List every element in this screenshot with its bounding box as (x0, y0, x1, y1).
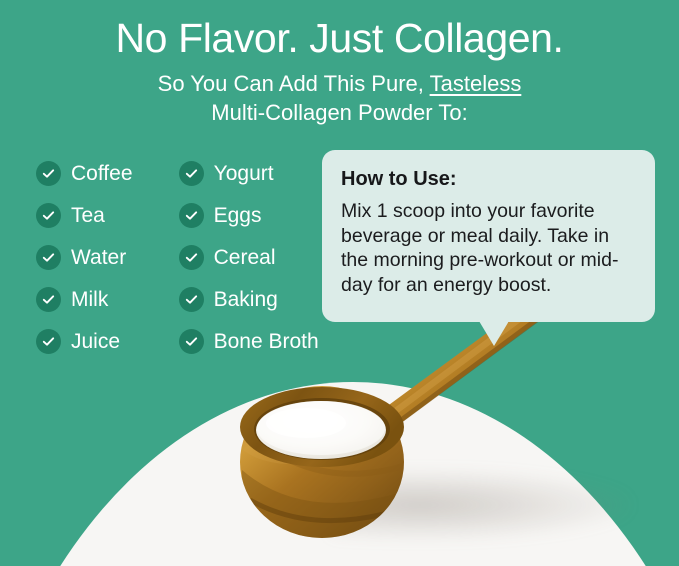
list-item: Bone Broth (179, 320, 336, 362)
list-item: Water (36, 236, 179, 278)
check-circle-icon (36, 203, 61, 228)
list-item: Juice (36, 320, 179, 362)
list-item-label: Bone Broth (214, 331, 319, 352)
usage-checklist: Coffee Tea Water Milk (36, 152, 336, 362)
headline-block: No Flavor. Just Collagen. So You Can Add… (0, 0, 679, 127)
check-circle-icon (179, 329, 204, 354)
list-item: Milk (36, 278, 179, 320)
subline: So You Can Add This Pure, Tasteless Mult… (0, 61, 679, 127)
list-item: Cereal (179, 236, 336, 278)
subline-prefix: So You Can Add This Pure, (158, 71, 430, 96)
checklist-column-left: Coffee Tea Water Milk (36, 152, 179, 362)
list-item-label: Baking (214, 289, 278, 310)
list-item-label: Eggs (214, 205, 262, 226)
list-item: Eggs (179, 194, 336, 236)
check-circle-icon (36, 245, 61, 270)
callout-title: How to Use: (341, 168, 636, 190)
list-item: Coffee (36, 152, 179, 194)
list-item-label: Juice (71, 331, 120, 352)
list-item: Tea (36, 194, 179, 236)
list-item-label: Tea (71, 205, 105, 226)
check-circle-icon (36, 329, 61, 354)
check-circle-icon (179, 245, 204, 270)
callout-tail-pointer (479, 321, 509, 346)
scoop-shadow (330, 470, 630, 540)
checklist-column-right: Yogurt Eggs Cereal Baking (179, 152, 336, 362)
subline-second-line: Multi-Collagen Powder To: (211, 100, 467, 125)
callout-body: Mix 1 scoop into your favorite beverage … (341, 199, 636, 297)
list-item-label: Cereal (214, 247, 276, 268)
list-item-label: Yogurt (214, 163, 274, 184)
list-item-label: Water (71, 247, 126, 268)
how-to-use-callout: How to Use: Mix 1 scoop into your favori… (322, 150, 655, 322)
list-item-label: Coffee (71, 163, 133, 184)
list-item: Yogurt (179, 152, 336, 194)
subline-underlined-word: Tasteless (430, 71, 522, 96)
check-circle-icon (179, 161, 204, 186)
check-circle-icon (36, 161, 61, 186)
list-item-label: Milk (71, 289, 108, 310)
page-title: No Flavor. Just Collagen. (0, 0, 679, 61)
check-circle-icon (179, 287, 204, 312)
list-item: Baking (179, 278, 336, 320)
promo-graphic: No Flavor. Just Collagen. So You Can Add… (0, 0, 679, 566)
check-circle-icon (179, 203, 204, 228)
check-circle-icon (36, 287, 61, 312)
